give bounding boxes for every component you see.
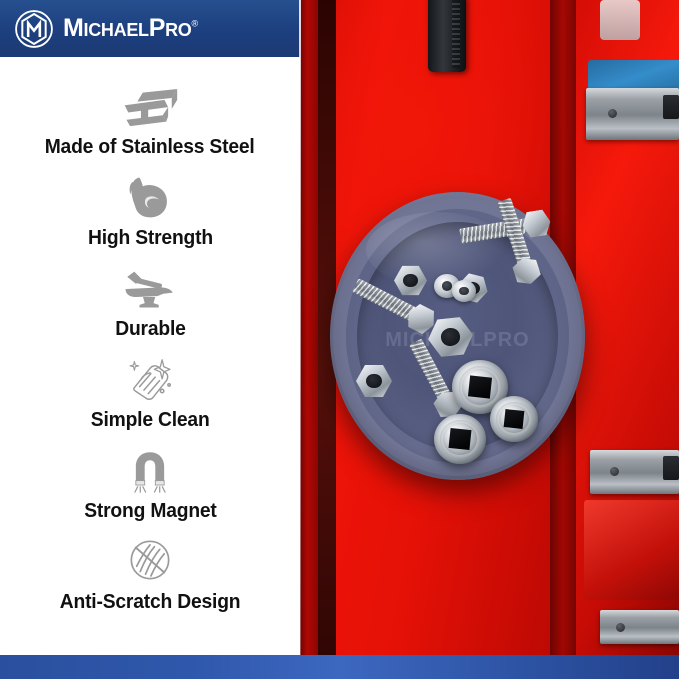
brand-m: M — [63, 14, 84, 42]
horseshoe-magnet-icon — [126, 443, 174, 493]
feature-panel: MICHAELPRO® — [0, 0, 300, 655]
no-scratch-icon — [126, 534, 174, 584]
brand-wordmark: MICHAELPRO® — [63, 16, 198, 41]
product-photo: MICHAELPRO — [300, 0, 679, 655]
toolbox-drawer-white — [600, 0, 640, 40]
impact-socket-bottom — [434, 414, 486, 464]
cleaning-hand-icon — [124, 352, 176, 402]
feature-label: Simple Clean — [91, 408, 210, 432]
washer-upper-right — [452, 280, 476, 302]
feature-label: Durable — [115, 317, 185, 341]
registered-trademark-icon: ® — [192, 19, 198, 29]
feature-item-high-strength: High Strength — [0, 170, 300, 250]
feature-item-durable: Durable — [0, 261, 300, 341]
footer-accent-bar — [0, 655, 679, 679]
feature-label: High Strength — [88, 226, 213, 250]
feature-label: Strong Magnet — [84, 499, 216, 523]
feature-label: Anti-Scratch Design — [60, 590, 241, 614]
steel-beam-icon — [121, 79, 179, 129]
anvil-hammer-icon — [122, 261, 178, 311]
drawer-slide-middle — [590, 450, 679, 494]
brand-p: P — [149, 14, 165, 42]
feature-item-stainless-steel: Made of Stainless Steel — [0, 79, 300, 159]
drawer-slide-lower — [600, 610, 679, 644]
impact-socket-right — [490, 396, 538, 442]
panel-divider — [299, 0, 301, 655]
product-infographic: MICHAELPRO — [0, 0, 679, 679]
hexagon-m-logo-icon — [14, 9, 54, 49]
magnetic-parts-tray: MICHAELPRO — [330, 192, 585, 480]
brand-ichael: ICHAEL — [84, 20, 149, 40]
feature-list: Made of Stainless Steel High Strength — [0, 57, 300, 655]
brand-header: MICHAELPRO® — [0, 0, 300, 57]
feature-item-simple-clean: Simple Clean — [0, 352, 300, 432]
brand-ro: RO — [165, 20, 191, 40]
feature-item-anti-scratch: Anti-Scratch Design — [0, 534, 300, 614]
toolbox-left-edge — [300, 0, 318, 655]
feature-item-strong-magnet: Strong Magnet — [0, 443, 300, 523]
toolbox-drawer-red-lower — [584, 500, 679, 600]
brand-logo: MICHAELPRO® — [0, 9, 198, 49]
drawer-slide-upper — [586, 88, 679, 140]
flexed-bicep-icon — [127, 170, 173, 220]
toolbox-handle — [428, 0, 466, 72]
feature-label: Made of Stainless Steel — [45, 135, 255, 159]
